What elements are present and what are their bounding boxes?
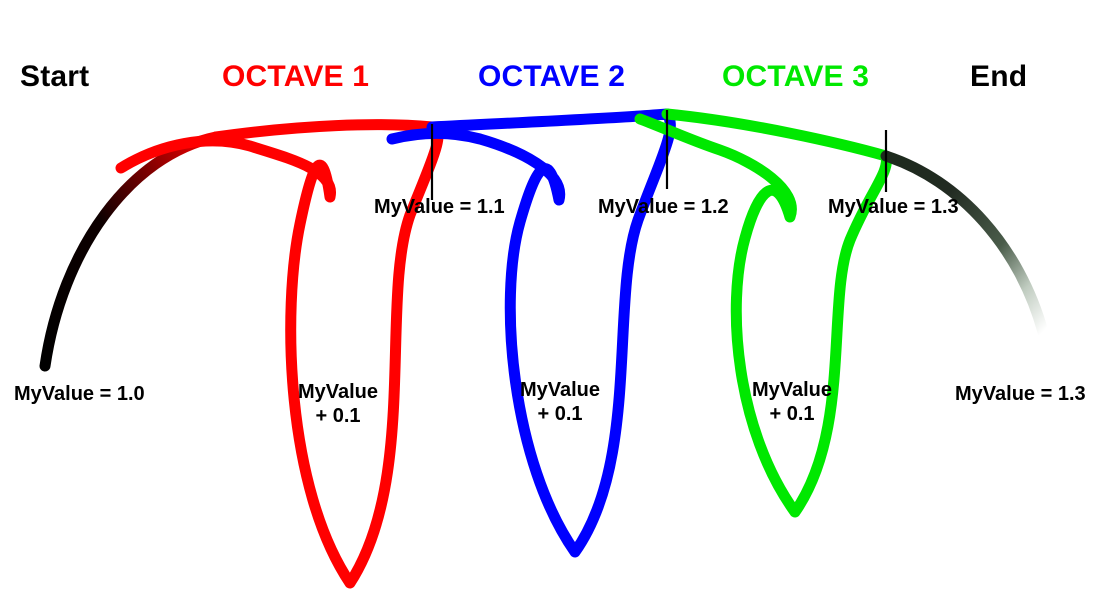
start-arc	[45, 137, 216, 366]
loop-label-line2: + 0.1	[752, 402, 832, 426]
loop-label-loop-1: MyValue+ 0.1	[298, 380, 378, 429]
heading-start: Start	[20, 60, 89, 94]
tick-label-value-end: MyValue = 1.3	[955, 383, 1086, 406]
tick-label-value-1-0: MyValue = 1.0	[14, 383, 145, 406]
loop-label-line2: + 0.1	[298, 404, 378, 428]
heading-end: End	[970, 60, 1027, 94]
heading-octave-3: OCTAVE 3	[722, 60, 869, 94]
octave3-loop	[640, 114, 887, 512]
loop-label-loop-2: MyValue+ 0.1	[520, 378, 600, 427]
loop-label-line1: MyValue	[298, 380, 378, 404]
octave2-loop	[392, 114, 670, 552]
heading-octave-2: OCTAVE 2	[478, 60, 625, 94]
tick-label-value-1-2: MyValue = 1.2	[598, 196, 729, 219]
octave1-loop	[121, 125, 438, 583]
tick-label-value-1-3: MyValue = 1.3	[828, 196, 959, 219]
loop-label-loop-3: MyValue+ 0.1	[752, 378, 832, 427]
loop-label-line1: MyValue	[520, 378, 600, 402]
end-arc	[886, 156, 1043, 332]
tick-label-value-1-1: MyValue = 1.1	[374, 196, 505, 219]
loop-label-line1: MyValue	[752, 378, 832, 402]
loop-label-line2: + 0.1	[520, 402, 600, 426]
diagram-canvas: StartOCTAVE 1OCTAVE 2OCTAVE 3End MyValue…	[0, 0, 1095, 602]
heading-octave-1: OCTAVE 1	[222, 60, 369, 94]
